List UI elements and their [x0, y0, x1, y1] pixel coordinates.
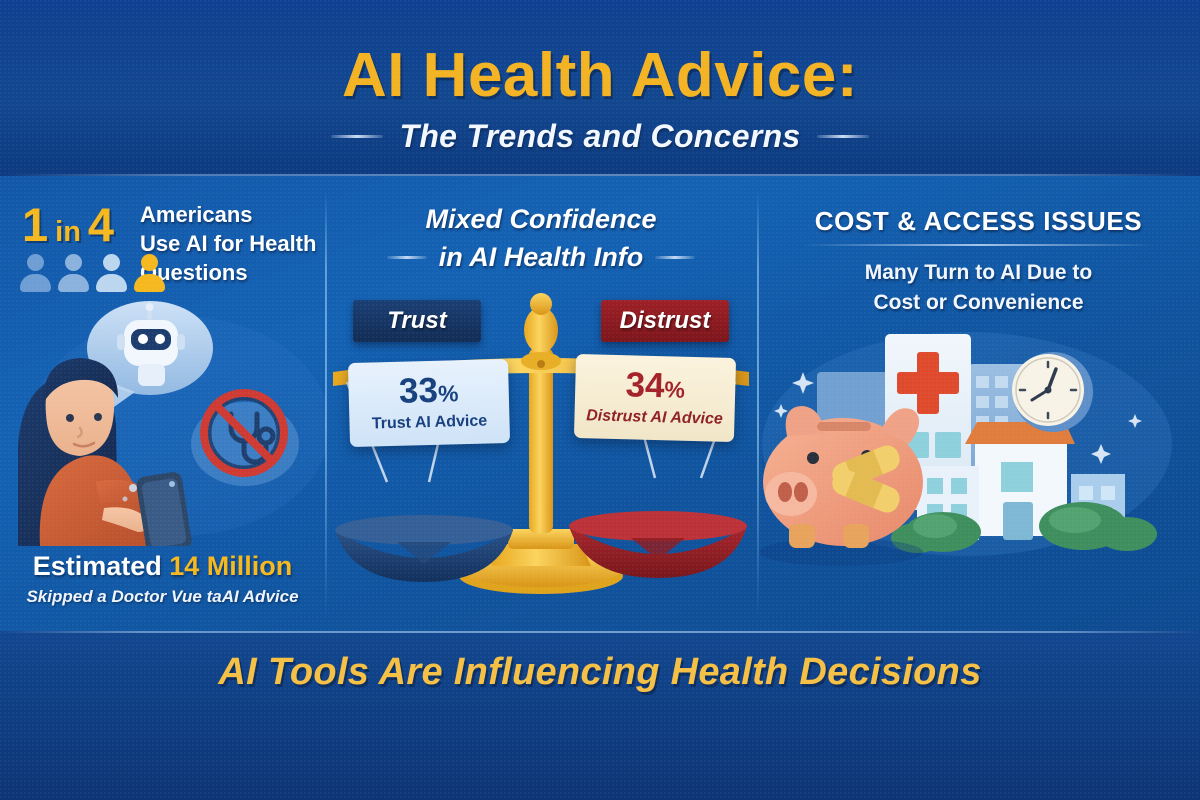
- adoption-headline-line3: Questions: [140, 258, 320, 287]
- cost-access-subtext-line2: Cost or Convenience: [757, 288, 1200, 318]
- distrust-percent-symbol: %: [664, 376, 685, 403]
- distrust-percent-value: 34: [625, 365, 665, 405]
- cost-access-heading: COST & ACCESS ISSUES: [757, 206, 1200, 237]
- footer-tagline: AI Tools Are Influencing Health Decision…: [0, 651, 1200, 694]
- distrust-stat-card: 34% Distrust AI Advice: [574, 354, 736, 442]
- stat-denominator: 4: [88, 201, 114, 248]
- woman-with-phone-illustration: [0, 296, 325, 546]
- people-icon-group: [20, 254, 165, 292]
- subtitle-group: The Trends and Concerns: [0, 118, 1200, 155]
- distrust-stat-label: Distrust AI Advice: [578, 407, 730, 429]
- cost-access-rule: [803, 244, 1154, 246]
- confidence-heading-line2: in AI Health Info: [439, 242, 644, 273]
- adoption-headline-line1: Americans: [140, 200, 320, 229]
- skipped-doctor-caption: Skipped a Doctor Vue taAI Advice: [0, 587, 325, 607]
- balance-scale-illustration: [325, 286, 757, 631]
- trust-percent-symbol: %: [438, 380, 459, 407]
- distrust-percent: 34%: [579, 366, 732, 405]
- cost-access-illustration: [757, 326, 1200, 576]
- cost-access-subtext-line1: Many Turn to AI Due to: [757, 258, 1200, 288]
- person-icon-4-highlighted: [134, 254, 165, 292]
- adoption-headline: Americans Use AI for Health Questions: [140, 200, 320, 287]
- trust-stat-label: Trust AI Advice: [353, 412, 505, 434]
- subtitle-rule-left: [331, 135, 383, 138]
- infographic-root: AI Health Advice: The Trends and Concern…: [0, 0, 1200, 800]
- trust-percent-value: 33: [398, 371, 438, 411]
- stat-numerator: 1: [22, 201, 48, 248]
- page-subtitle: The Trends and Concerns: [399, 118, 800, 155]
- adoption-headline-line2: Use AI for Health: [140, 229, 320, 258]
- skipped-doctor-number: 14 Million: [169, 551, 292, 581]
- stat-one-in-four: 1 in 4: [22, 201, 114, 248]
- panel-adoption: 1 in 4 Americans Use AI for Health Quest…: [0, 176, 325, 631]
- cost-access-subtext: Many Turn to AI Due to Cost or Convenien…: [757, 258, 1200, 319]
- skipped-doctor-headline: Estimated 14 Million: [0, 551, 325, 582]
- confidence-rule-right: [655, 256, 695, 259]
- person-icon-3: [96, 254, 127, 292]
- confidence-heading-group: in AI Health Info: [325, 242, 757, 273]
- trust-stat-card: 33% Trust AI Advice: [348, 359, 510, 447]
- person-icon-1: [20, 254, 51, 292]
- panel-cost-access: COST & ACCESS ISSUES Many Turn to AI Due…: [757, 176, 1200, 631]
- trust-percent: 33%: [352, 371, 505, 410]
- stat-connector: in: [55, 218, 81, 247]
- confidence-rule-left: [387, 256, 427, 259]
- skipped-doctor-stat: Estimated 14 Million Skipped a Doctor Vu…: [0, 551, 325, 607]
- confidence-heading-line1: Mixed Confidence: [325, 204, 757, 235]
- skipped-doctor-prefix: Estimated: [33, 551, 170, 581]
- panel-confidence: Mixed Confidence in AI Health Info Trust…: [325, 176, 757, 631]
- page-title: AI Health Advice:: [0, 40, 1200, 111]
- subtitle-rule-right: [817, 135, 869, 138]
- person-icon-2: [58, 254, 89, 292]
